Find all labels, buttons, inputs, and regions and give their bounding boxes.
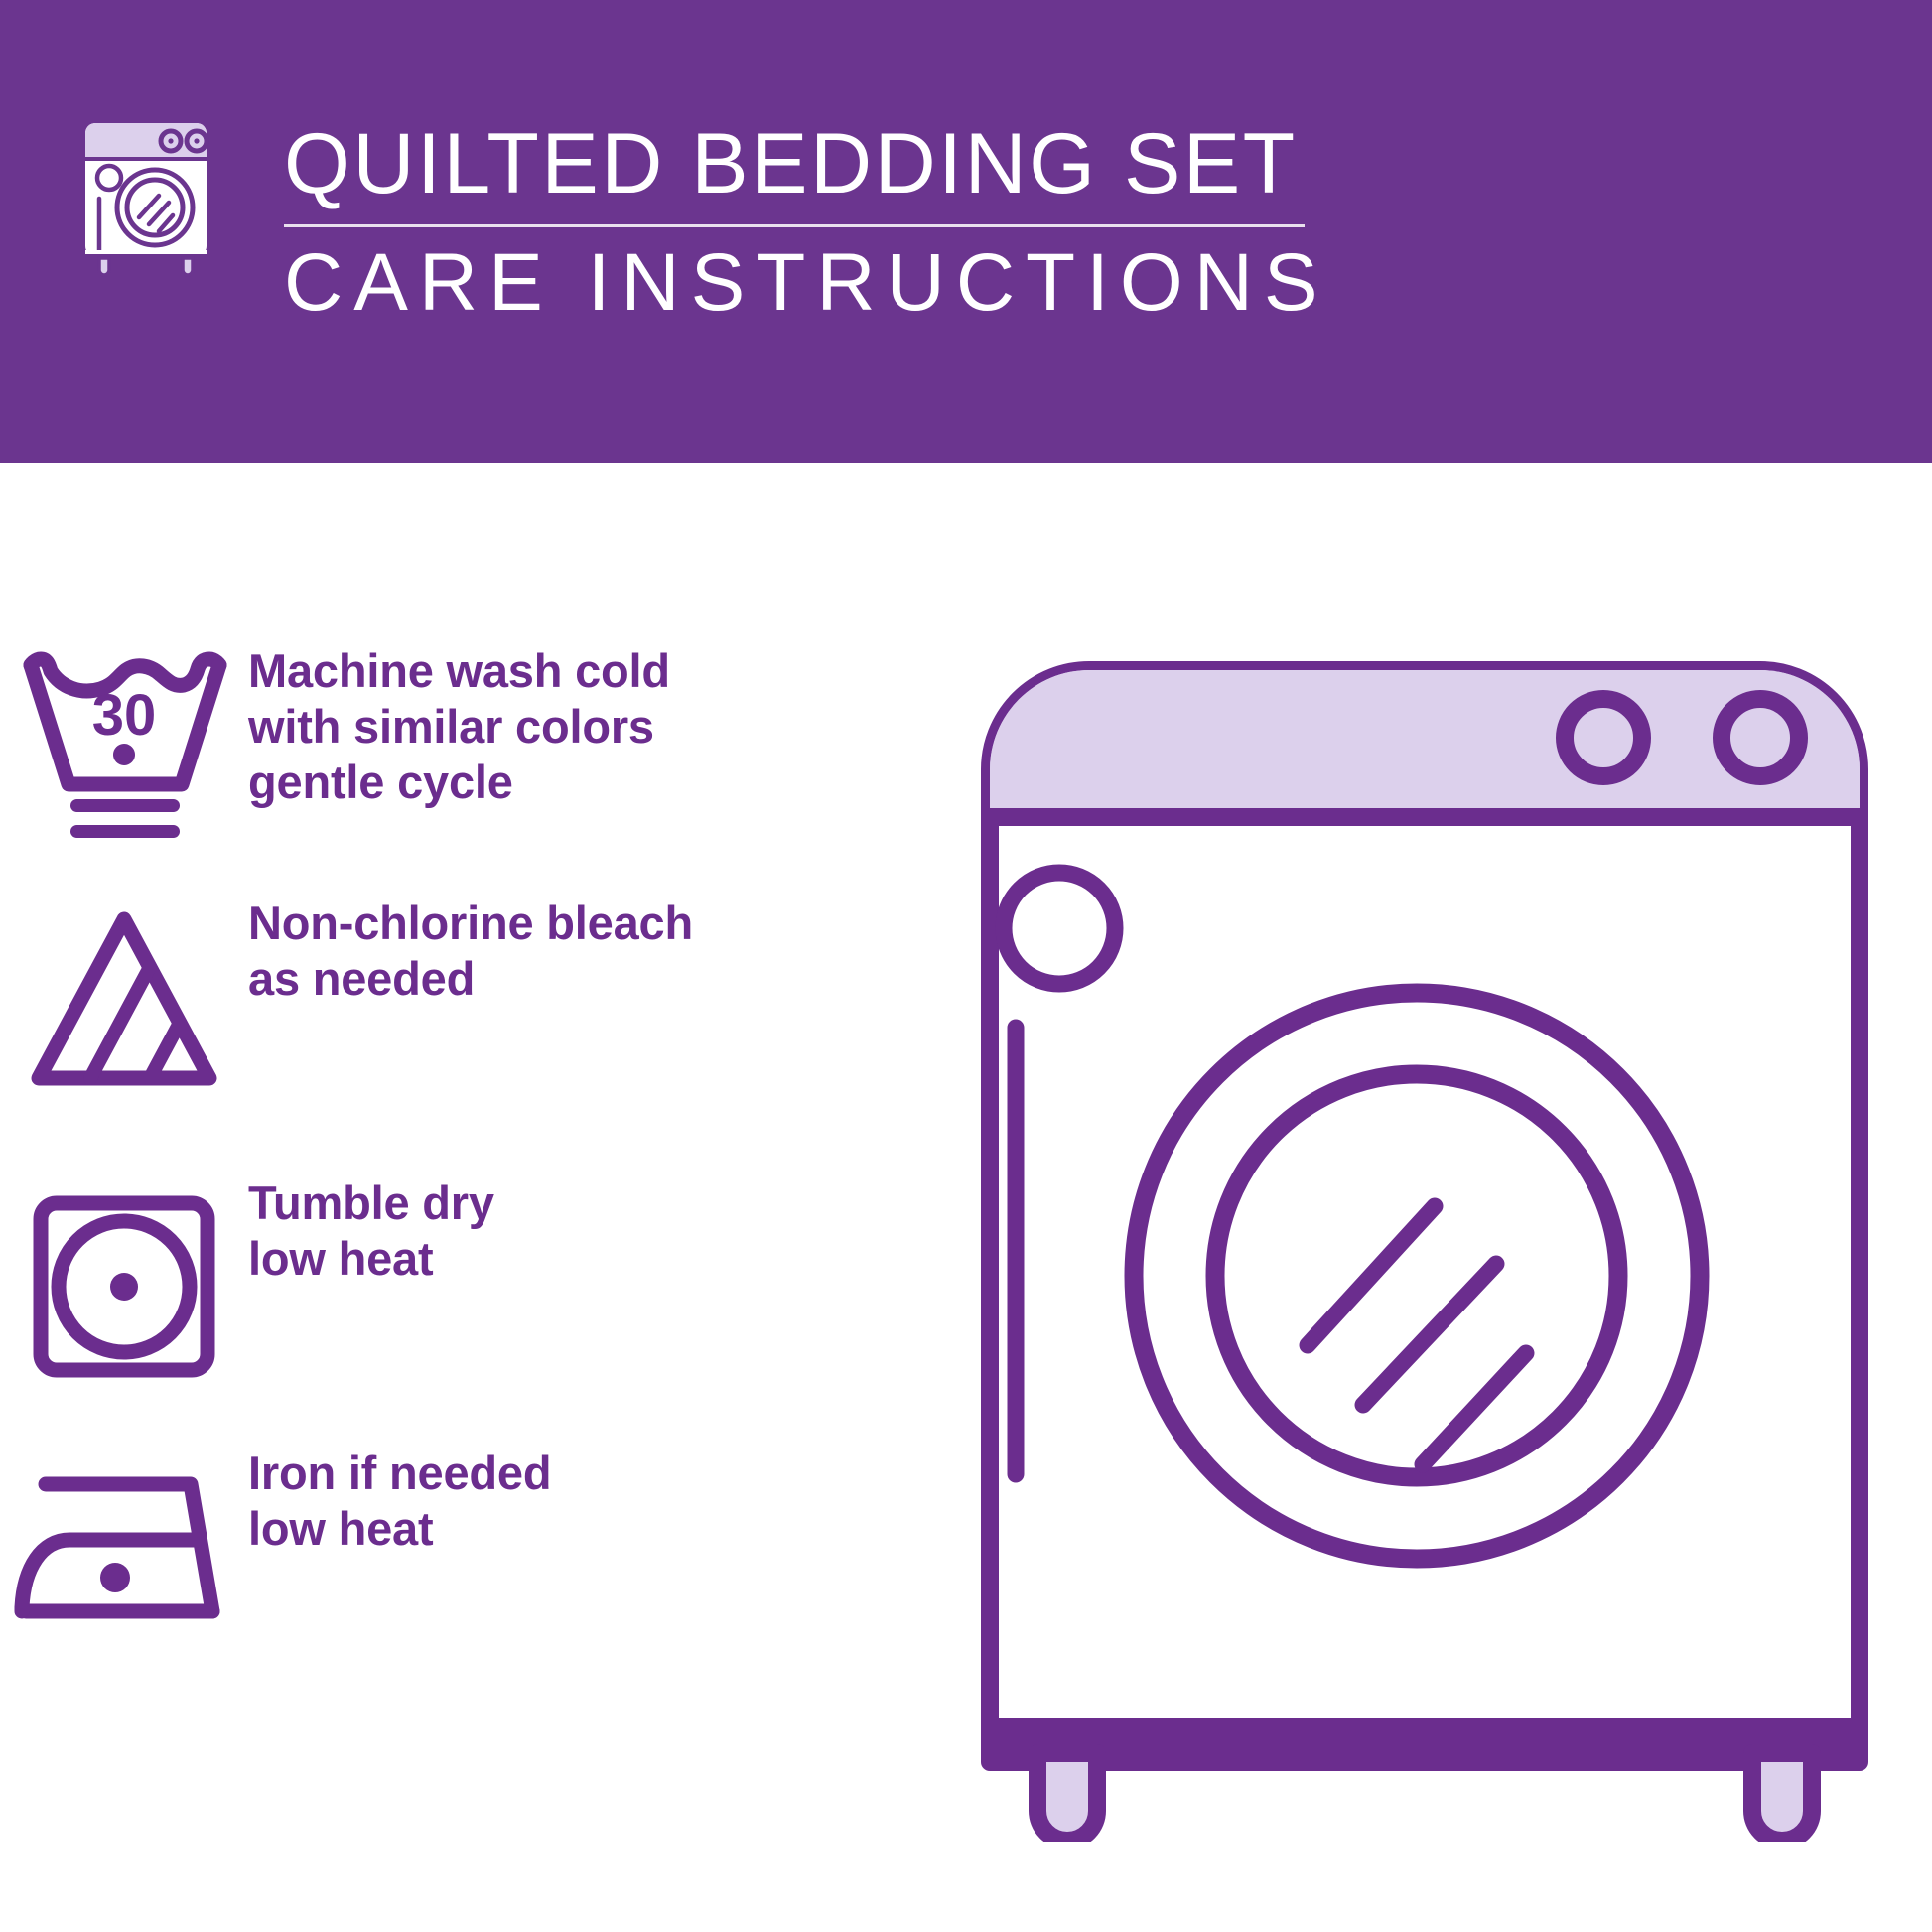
tumble-dry-low-icon [0,1172,248,1400]
title-divider [284,224,1305,227]
page-title-primary: QUILTED BEDDING SET [284,117,1336,218]
wash-temperature-value: 30 [92,683,157,748]
machine-wash-30-gentle-icon: 30 [0,635,248,864]
non-chlorine-bleach-icon [0,892,248,1120]
care-text-wash: Machine wash cold with similar colors ge… [248,635,670,810]
care-text-bleach: Non-chlorine bleach as needed [248,892,693,1007]
care-row-bleach: Non-chlorine bleach as needed [0,892,953,1120]
care-text-iron: Iron if needed low heat [248,1442,551,1557]
care-instructions-page: QUILTED BEDDING SET CARE INSTRUCTIONS 30 [0,0,1932,1932]
header-text-block: QUILTED BEDDING SET CARE INSTRUCTIONS [284,117,1336,329]
page-title-secondary: CARE INSTRUCTIONS [284,237,1336,329]
iron-low-heat-icon [0,1442,248,1670]
care-row-wash: 30 Machine wash cold with similar colors… [0,635,953,864]
knob-left [1565,699,1642,776]
knob-right [1722,699,1799,776]
header-band: QUILTED BEDDING SET CARE INSTRUCTIONS [0,0,1932,463]
washing-machine-icon [77,111,226,278]
care-row-iron: Iron if needed low heat [0,1442,953,1670]
care-row-tumble-dry: Tumble dry low heat [0,1172,953,1400]
care-text-tumble-dry: Tumble dry low heat [248,1172,494,1287]
washing-machine-illustration [968,650,1881,1842]
